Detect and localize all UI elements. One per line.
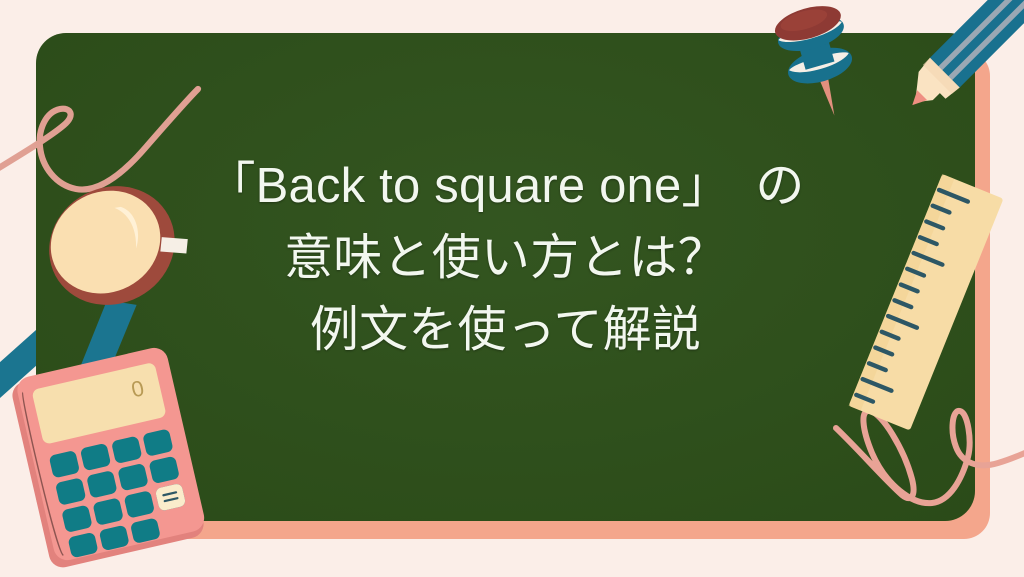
- squiggle-bottom-right-icon: [820, 395, 1024, 545]
- poster-canvas: 「Back to square one」 の 意味と使い方とは？ 例文を使って解…: [0, 0, 1024, 577]
- pencil-icon: [862, 0, 1024, 142]
- push-pin-icon: [762, 0, 872, 120]
- magnifying-glass-icon: [22, 160, 202, 360]
- calculator-icon: 0: [6, 348, 216, 563]
- ruler-icon: [876, 165, 1024, 405]
